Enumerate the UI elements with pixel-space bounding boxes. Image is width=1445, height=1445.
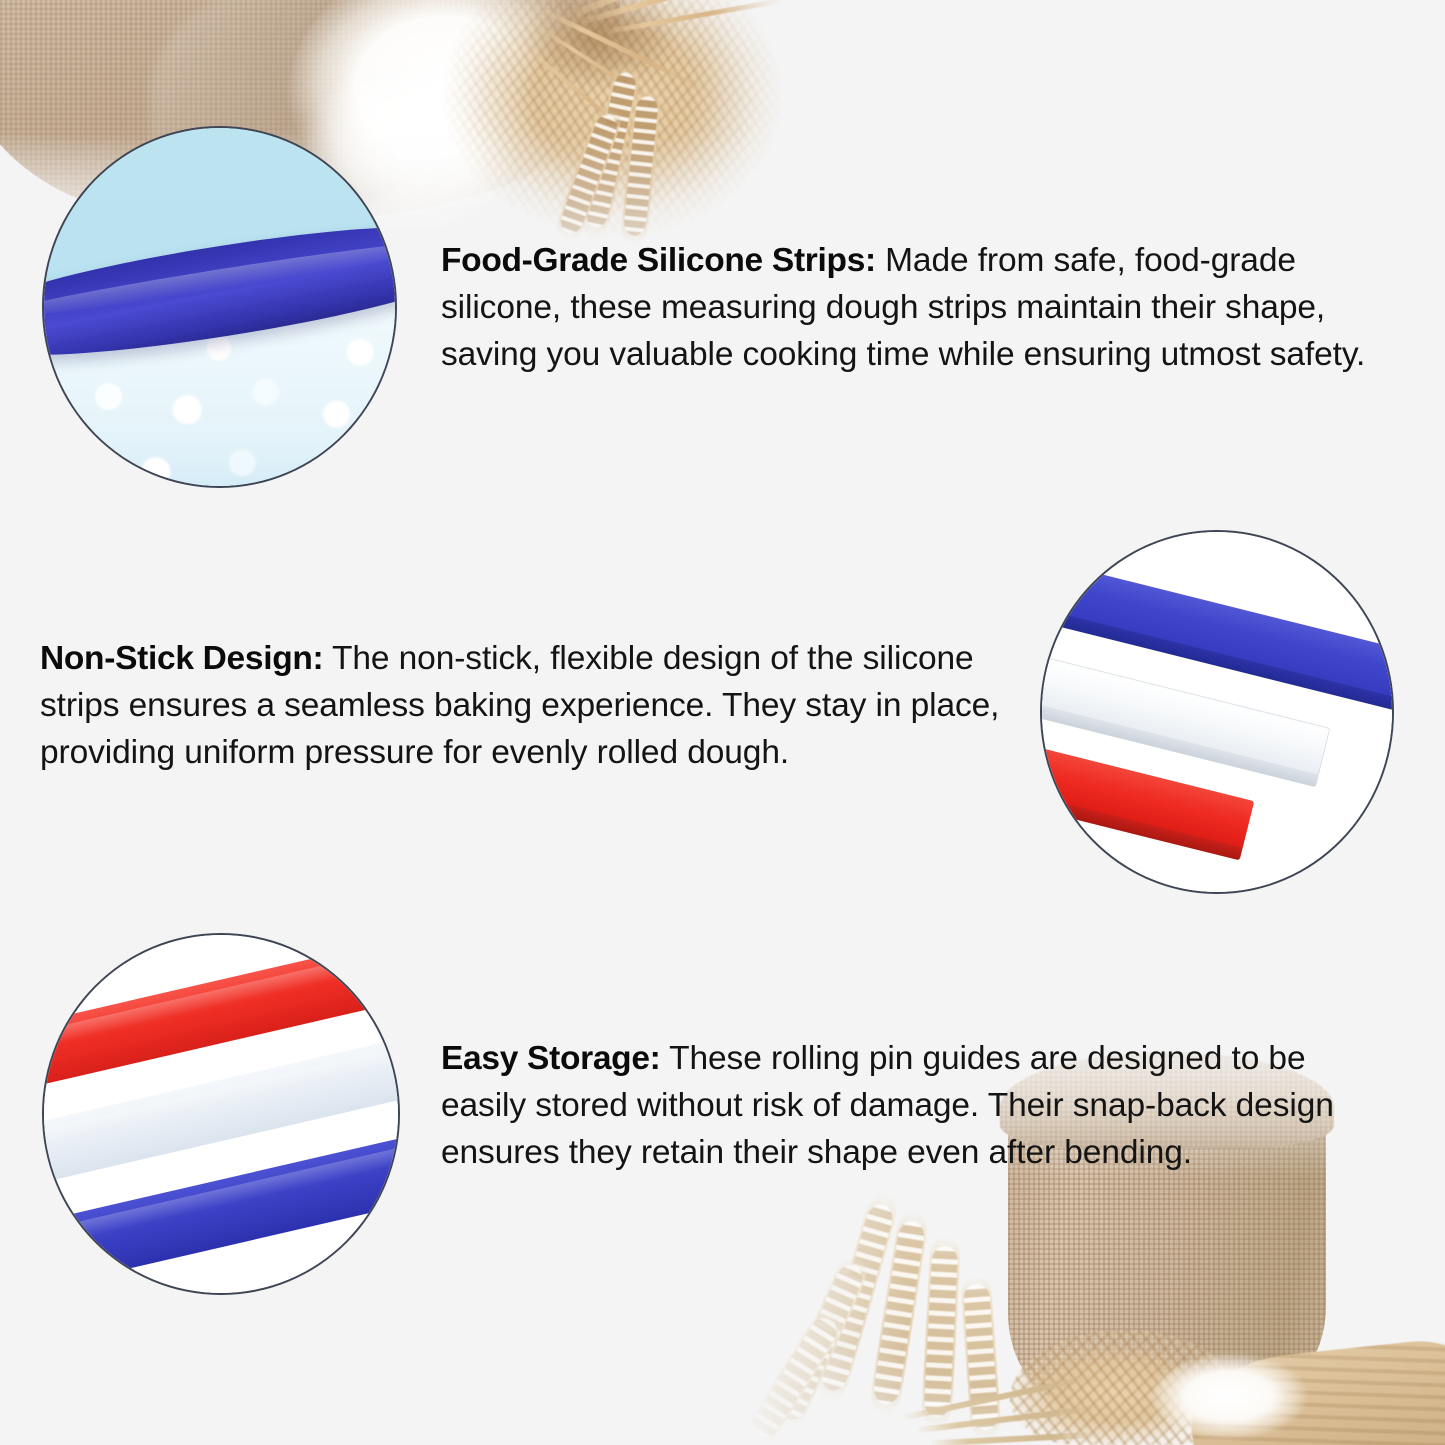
feature-text-non-stick-design: Non-Stick Design: The non-stick, flexibl… bbox=[40, 635, 1045, 776]
wheat-ear-icon bbox=[868, 1209, 930, 1416]
wooden-board-bottom bbox=[1185, 1335, 1445, 1445]
feature-text-food-grade-silicone-strips: Food-Grade Silicone Strips: Made from sa… bbox=[441, 237, 1421, 378]
wheat-grain-pile-bottom bbox=[1010, 1330, 1240, 1445]
feature-image-food-grade-silicone-strips bbox=[42, 126, 397, 488]
wheat-stalk-icon bbox=[930, 1432, 1100, 1445]
wheat-ear-icon bbox=[960, 1275, 1001, 1439]
wheat-ear-icon bbox=[813, 1190, 901, 1405]
wheat-ear-icon bbox=[743, 1305, 848, 1445]
wheat-stalk-icon bbox=[902, 1373, 1099, 1420]
feature-title: Food-Grade Silicone Strips: bbox=[441, 242, 876, 279]
infographic-canvas: Food-Grade Silicone Strips: Made from sa… bbox=[0, 0, 1445, 1445]
wheat-bundle-bottom bbox=[780, 1180, 1110, 1445]
feature-title: Easy Storage: bbox=[441, 1040, 661, 1077]
feature-title: Non-Stick Design: bbox=[40, 640, 323, 677]
feature-image-non-stick-design bbox=[1040, 530, 1394, 894]
feature-image-easy-storage bbox=[42, 933, 400, 1295]
wheat-stalk-icon bbox=[916, 1405, 1100, 1434]
wheat-ear-icon bbox=[770, 1252, 873, 1433]
flour-spill-bottom bbox=[1148, 1352, 1323, 1445]
feature-text-easy-storage: Easy Storage: These rolling pin guides a… bbox=[441, 1035, 1391, 1176]
wheat-ear-icon bbox=[921, 1235, 961, 1426]
